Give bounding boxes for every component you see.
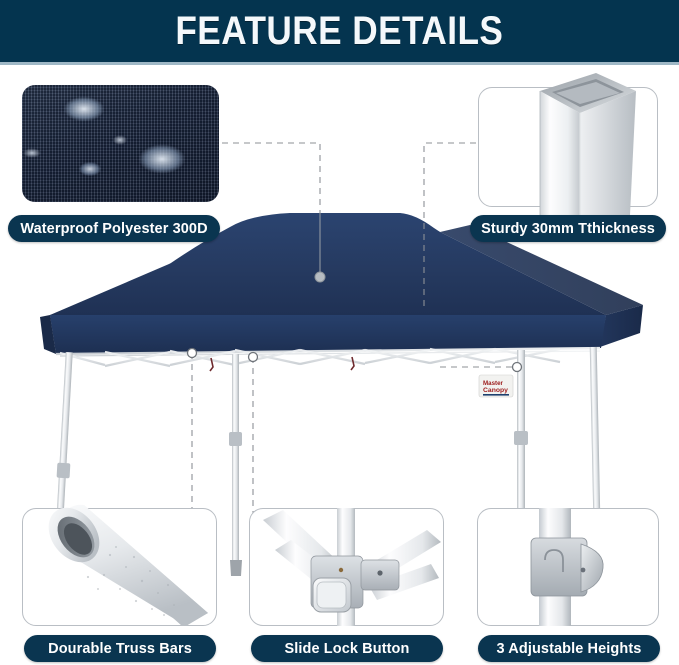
square-aluminum-tube-photo [478,65,658,215]
waterproof-fabric-photo [22,85,219,202]
leader-dot-slidelock [249,353,258,362]
feature-stage: Master Canopy [0,65,679,665]
leader-sturdy [424,143,476,311]
callout-label-sturdy: Sturdy 30mm Tthickness [470,215,666,242]
leader-dot-slidelock-2 [513,363,522,372]
header-banner: FEATURE DETAILS [0,0,679,62]
callout-label-waterproof: Waterproof Polyester 300D [8,215,220,242]
callout-label-truss: Dourable Truss Bars [24,635,216,662]
height-adjustment-collar-photo [477,508,659,626]
callout-label-heights: 3 Adjustable Heights [478,635,660,662]
oval-truss-bar-photo [22,495,217,627]
slide-lock-hub-photo [249,508,444,626]
leader-waterproof [222,143,320,215]
callout-label-slidelock: Slide Lock Button [251,635,443,662]
leader-dot-truss [188,349,197,358]
page-title: FEATURE DETAILS [176,9,504,54]
